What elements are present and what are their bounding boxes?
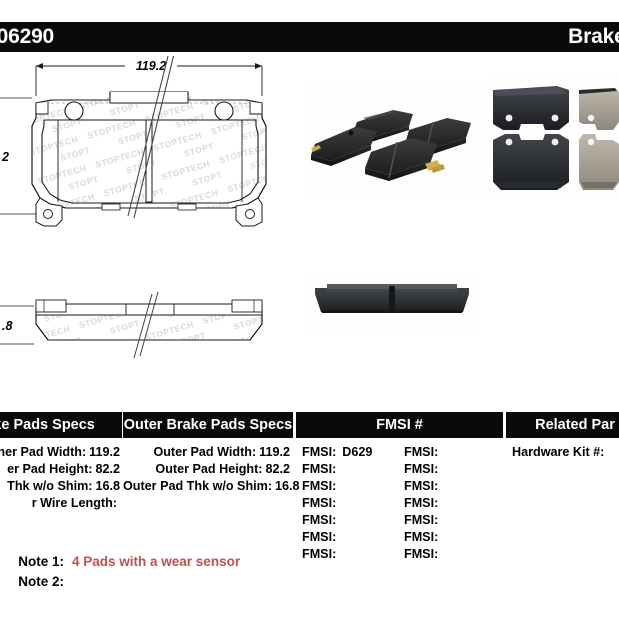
product-photo-edge-view	[307, 272, 477, 334]
fmsi-row: FMSI:	[302, 461, 372, 478]
dimension-thickness-label: .8	[2, 319, 12, 333]
spec-value: 82.2	[92, 462, 120, 476]
spec-value	[117, 496, 120, 510]
fmsi-label: FMSI:	[404, 445, 438, 459]
pad-photo-item	[493, 86, 569, 130]
header-outer-brake-pads-specs: Outer Brake Pads Specs	[123, 412, 293, 438]
spec-label: er Pad Height:	[7, 462, 92, 476]
dimension-height-label: 2	[1, 150, 9, 164]
spec-row: er Pad Height:82.2	[0, 461, 120, 478]
fmsi-row: FMSI:	[302, 529, 372, 546]
outer-specs-list: Outer Pad Width:119.2 Outer Pad Height:8…	[123, 444, 290, 495]
spec-row: Thk w/o Shim:16.8	[0, 478, 120, 495]
spec-value: 82.2	[262, 462, 290, 476]
note-1-text: 4 Pads with a wear sensor	[72, 552, 240, 572]
drawing-svg: STOPTECH STOPTECH 119.2	[0, 56, 300, 396]
spec-label: r Wire Length:	[32, 496, 117, 510]
technical-drawing: STOPTECH STOPTECH 119.2	[0, 56, 300, 396]
fmsi-label: FMSI:	[404, 462, 438, 476]
fmsi-row: FMSI:	[404, 512, 444, 529]
fmsi-column-a: FMSI:D629 FMSI: FMSI: FMSI: FMSI: FMSI: …	[302, 444, 372, 563]
spec-row: Outer Pad Width:119.2	[123, 444, 290, 461]
spec-value: 119.2	[86, 445, 120, 459]
spec-table-body: ner Pad Width:119.2 er Pad Height:82.2 T…	[0, 438, 619, 543]
spec-value: 16.8	[92, 479, 120, 493]
fmsi-value: D629	[336, 445, 372, 459]
spec-row: Outer Pad Thk w/o Shim:16.8	[123, 478, 290, 495]
fmsi-row: FMSI:	[404, 461, 444, 478]
fmsi-row: FMSI:	[302, 512, 372, 529]
spec-value: 119.2	[256, 445, 290, 459]
fmsi-row: FMSI:	[404, 444, 444, 461]
fmsi-row: FMSI:	[404, 529, 444, 546]
fmsi-value	[336, 479, 342, 493]
fmsi-value	[438, 513, 444, 527]
page-title: Brake P	[568, 25, 619, 49]
fmsi-row: FMSI:	[404, 495, 444, 512]
fmsi-label: FMSI:	[404, 496, 438, 510]
spec-label: Outer Pad Height:	[155, 462, 262, 476]
fmsi-label: FMSI:	[302, 462, 336, 476]
fmsi-value	[438, 496, 444, 510]
fmsi-row: FMSI:	[302, 478, 372, 495]
header-separator-2	[503, 412, 505, 438]
fmsi-row: FMSI:D629	[302, 444, 372, 461]
mounting-hole-left	[65, 102, 83, 120]
fmsi-row: FMSI:	[302, 495, 372, 512]
fmsi-label: FMSI:	[302, 496, 336, 510]
page-header: .06290 Brake P	[0, 22, 619, 52]
spec-row: r Wire Length:	[0, 495, 120, 512]
spec-label: ner Pad Width:	[0, 445, 86, 459]
spec-label: Thk w/o Shim:	[7, 479, 92, 493]
product-photo-pads-grid	[487, 78, 619, 200]
hardware-kit-label: Hardware Kit #:	[512, 445, 604, 459]
fmsi-row: FMSI:	[404, 478, 444, 495]
pad-photo-item	[579, 88, 619, 130]
header-inner-brake-pads-specs: Brake Pads Specs	[0, 412, 122, 438]
pad-face-view	[20, 56, 290, 226]
spec-table-header-row: Brake Pads Specs Outer Brake Pads Specs …	[0, 412, 619, 438]
fmsi-label: FMSI:	[302, 445, 336, 459]
header-separator-1	[293, 412, 295, 438]
related-parts-list: Hardware Kit #:	[512, 444, 610, 461]
fmsi-label: FMSI:	[302, 530, 336, 544]
header-related-parts: Related Par	[506, 412, 619, 438]
dimension-width-label: 119.2	[136, 59, 166, 73]
fmsi-value	[336, 513, 342, 527]
spec-label: Outer Pad Width:	[153, 445, 256, 459]
mounting-hole-right	[215, 102, 233, 120]
spec-row: Outer Pad Height:82.2	[123, 461, 290, 478]
fmsi-label: FMSI:	[404, 513, 438, 527]
fmsi-label: FMSI:	[302, 479, 336, 493]
part-number: .06290	[0, 25, 54, 49]
fmsi-value	[438, 479, 444, 493]
spec-label: Outer Pad Thk w/o Shim:	[123, 479, 272, 493]
fmsi-value	[438, 530, 444, 544]
note-2-row: Note 2:	[0, 572, 619, 592]
product-photo-four-pads	[305, 82, 490, 197]
fmsi-value	[336, 462, 342, 476]
pad-photo-item	[493, 134, 569, 190]
fmsi-label: FMSI:	[404, 479, 438, 493]
hardware-kit-value	[604, 445, 610, 459]
fmsi-value	[336, 530, 342, 544]
note-1-label: Note 1:	[0, 552, 72, 572]
pad-edge-view	[20, 292, 290, 358]
pad-photo-item	[579, 134, 619, 190]
fmsi-value	[336, 496, 342, 510]
spec-table: Brake Pads Specs Outer Brake Pads Specs …	[0, 412, 619, 543]
fmsi-column-b: FMSI: FMSI: FMSI: FMSI: FMSI: FMSI: FMSI…	[404, 444, 444, 563]
note-2-label: Note 2:	[0, 572, 72, 592]
fmsi-value	[438, 462, 444, 476]
fmsi-value	[438, 445, 444, 459]
product-spec-sheet: .06290 Brake P STOPTECH STOPTECH	[0, 0, 619, 619]
fmsi-label: FMSI:	[302, 513, 336, 527]
notes-section: Note 1: 4 Pads with a wear sensor Note 2…	[0, 552, 619, 592]
spec-value: 16.8	[272, 479, 300, 493]
spec-row: ner Pad Width:119.2	[0, 444, 120, 461]
pad-photo-item	[315, 284, 469, 313]
related-part-row: Hardware Kit #:	[512, 444, 610, 461]
header-fmsi: FMSI #	[296, 412, 503, 438]
inner-specs-list: ner Pad Width:119.2 er Pad Height:82.2 T…	[0, 444, 120, 512]
note-1-row: Note 1: 4 Pads with a wear sensor	[0, 552, 619, 572]
fmsi-label: FMSI:	[404, 530, 438, 544]
